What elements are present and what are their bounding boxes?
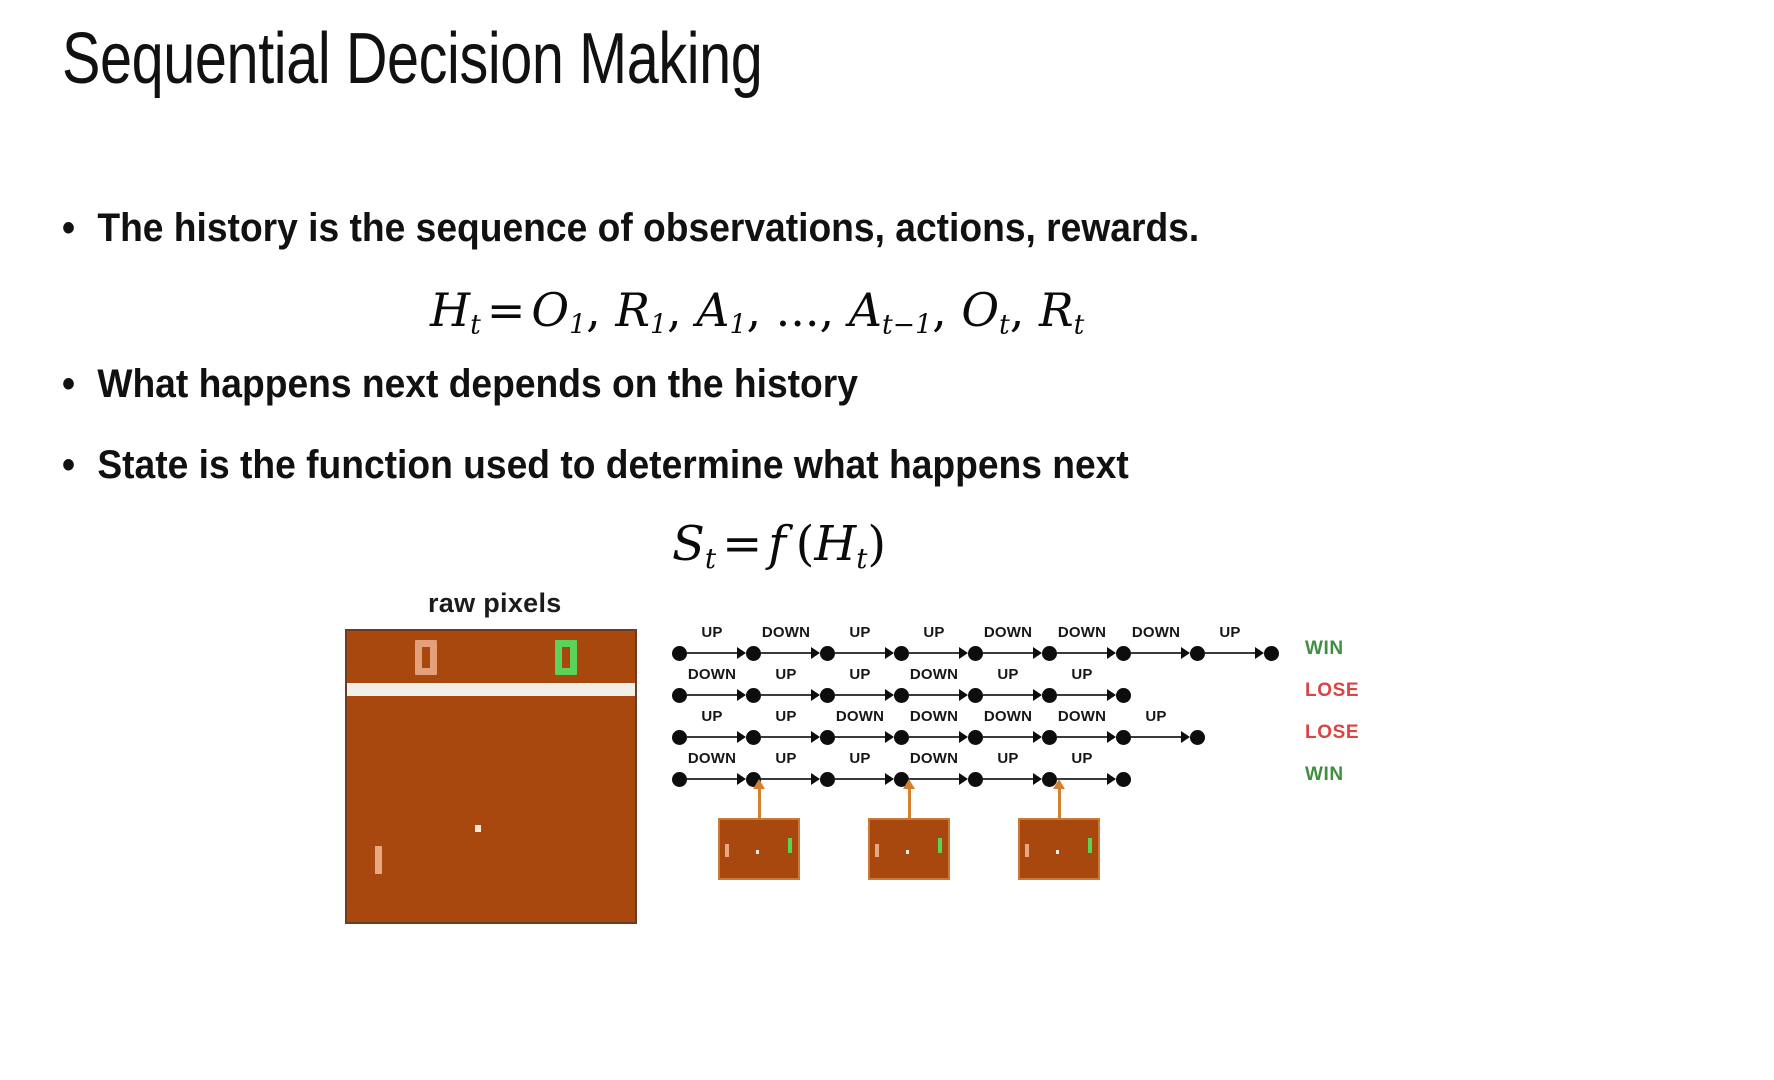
trajectory-state-node (746, 646, 761, 661)
trajectory-edge (909, 694, 959, 696)
trajectory-state-node (1190, 646, 1205, 661)
trajectory-arrow-icon (959, 647, 968, 659)
trajectory-edge (687, 652, 737, 654)
bullet-text-2: What happens next depends on the history (97, 362, 858, 406)
trajectory-arrow-icon (959, 731, 968, 743)
trajectory-state-node (1264, 646, 1279, 661)
trajectory-action-label: DOWN (1132, 624, 1180, 641)
equation-history-lhs: Ht (430, 283, 481, 337)
trajectory-edge (983, 778, 1033, 780)
trajectory-edge (983, 652, 1033, 654)
bullet-item-2: •What happens next depends on the histor… (62, 362, 858, 407)
trajectory-arrow-icon (885, 689, 894, 701)
trajectory-action-label: UP (923, 624, 944, 641)
trajectory-action-label: DOWN (688, 666, 736, 683)
trajectory-edge (983, 736, 1033, 738)
trajectory-state-node (672, 772, 687, 787)
trajectory-outcome-label: LOSE (1305, 722, 1359, 744)
trajectory-state-node (820, 772, 835, 787)
equation-state-lhs: St (672, 516, 716, 572)
trajectory-edge (909, 736, 959, 738)
trajectory-action-label: UP (1071, 666, 1092, 683)
trajectory-action-label: DOWN (910, 708, 958, 725)
trajectory-edge (1057, 652, 1107, 654)
pong-score-band (347, 631, 635, 683)
trajectory-outcome-label: LOSE (1305, 680, 1359, 702)
trajectory-arrow-icon (737, 647, 746, 659)
trajectory-action-label: DOWN (1058, 708, 1106, 725)
trajectory-row: DOWNUPUPDOWNUPUPLOSE (660, 680, 1360, 710)
frame-ball (756, 850, 759, 854)
trajectory-edge (1057, 694, 1107, 696)
trajectory-state-node (1116, 646, 1131, 661)
trajectory-arrow-icon (811, 689, 820, 701)
trajectory-action-label: DOWN (688, 750, 736, 767)
trajectory-action-label: UP (775, 708, 796, 725)
trajectory-edge (1131, 736, 1181, 738)
trajectory-state-node (968, 730, 983, 745)
trajectory-arrow-icon (737, 773, 746, 785)
trajectory-edge (835, 652, 885, 654)
trajectory-state-node (894, 646, 909, 661)
trajectory-action-label: UP (997, 666, 1018, 683)
trajectory-edge (687, 778, 737, 780)
trajectory-edge (687, 736, 737, 738)
bullet-item-3: •State is the function used to determine… (62, 443, 1129, 488)
slide-title: Sequential Decision Making (62, 22, 762, 98)
trajectory-action-label: UP (1071, 750, 1092, 767)
trajectory-arrow-icon (959, 689, 968, 701)
trajectory-state-node (894, 688, 909, 703)
trajectory-edge (909, 652, 959, 654)
trajectory-action-label: UP (775, 750, 796, 767)
trajectory-state-node (672, 688, 687, 703)
trajectory-action-label: UP (849, 750, 870, 767)
bullet-text-1: The history is the sequence of observati… (97, 206, 1199, 250)
trajectory-state-node (746, 688, 761, 703)
trajectory-edge (835, 778, 885, 780)
trajectory-action-label: UP (1145, 708, 1166, 725)
trajectory-state-node (820, 646, 835, 661)
equation-history: Ht=O1, R1, A1, ..., At−1, Ot, Rt (430, 283, 1084, 340)
trajectory-edge (761, 652, 811, 654)
trajectory-edge (835, 736, 885, 738)
pong-left-paddle (375, 846, 382, 874)
trajectory-action-label: UP (849, 666, 870, 683)
trajectory-arrow-icon (1033, 647, 1042, 659)
trajectory-row: UPDOWNUPUPDOWNDOWNDOWNUPWIN (660, 638, 1360, 668)
frame-left-paddle (875, 844, 879, 857)
trajectory-action-label: DOWN (910, 750, 958, 767)
trajectory-arrow-icon (1107, 731, 1116, 743)
frame-left-paddle (1025, 844, 1029, 857)
trajectory-state-node (672, 646, 687, 661)
trajectory-arrow-icon (1255, 647, 1264, 659)
trajectory-arrow-icon (1033, 689, 1042, 701)
trajectory-state-node (820, 730, 835, 745)
bullet-marker-3: • (62, 443, 97, 488)
trajectory-action-label: DOWN (1058, 624, 1106, 641)
trajectory-edge (761, 736, 811, 738)
trajectory-arrow-icon (1033, 773, 1042, 785)
trajectory-action-label: DOWN (762, 624, 810, 641)
pong-score-right-digit (555, 640, 577, 675)
trajectory-action-label: UP (775, 666, 796, 683)
trajectory-row: UPUPDOWNDOWNDOWNDOWNUPLOSE (660, 722, 1360, 752)
trajectory-arrow-icon (737, 689, 746, 701)
bullet-text-3: State is the function used to determine … (97, 443, 1128, 487)
trajectory-arrow-icon (885, 731, 894, 743)
trajectory-state-node (1116, 730, 1131, 745)
trajectory-arrow-icon (1181, 731, 1190, 743)
trajectory-edge (1057, 736, 1107, 738)
trajectory-arrow-icon (885, 773, 894, 785)
trajectory-action-label: DOWN (984, 708, 1032, 725)
trajectory-edge (761, 694, 811, 696)
trajectory-edge (761, 778, 811, 780)
trajectory-arrow-icon (1107, 773, 1116, 785)
trajectory-edge (687, 694, 737, 696)
sample-frame (1018, 818, 1100, 880)
trajectory-action-label: DOWN (836, 708, 884, 725)
trajectory-outcome-label: WIN (1305, 764, 1344, 786)
sample-frame (868, 818, 950, 880)
trajectory-arrow-icon (737, 731, 746, 743)
trajectory-state-node (672, 730, 687, 745)
trajectory-state-node (968, 646, 983, 661)
trajectory-state-node (1116, 772, 1131, 787)
trajectory-arrow-icon (1107, 689, 1116, 701)
trajectory-state-node (894, 730, 909, 745)
trajectory-arrow-icon (811, 773, 820, 785)
trajectory-edge (835, 694, 885, 696)
frame-left-paddle (725, 844, 729, 857)
frame-right-paddle (788, 838, 792, 853)
trajectory-state-node (1190, 730, 1205, 745)
trajectory-state-node (968, 772, 983, 787)
sample-frame (718, 818, 800, 880)
trajectory-arrow-icon (1107, 647, 1116, 659)
trajectory-state-node (1042, 730, 1057, 745)
trajectory-arrow-icon (811, 731, 820, 743)
trajectory-state-node (1042, 688, 1057, 703)
bullet-marker-1: • (62, 206, 97, 251)
slide-canvas: Sequential Decision Making •The history … (0, 0, 1774, 1080)
trajectory-edge (1205, 652, 1255, 654)
trajectory-edge (1131, 652, 1181, 654)
frame-up-arrow-icon (1058, 788, 1061, 820)
trajectory-state-node (746, 730, 761, 745)
pong-play-field (347, 696, 635, 922)
trajectory-action-label: UP (997, 750, 1018, 767)
frame-up-arrow-icon (908, 788, 911, 820)
bullet-marker-2: • (62, 362, 97, 407)
trajectory-action-label: UP (701, 708, 722, 725)
frame-right-paddle (938, 838, 942, 853)
trajectory-arrow-icon (885, 647, 894, 659)
trajectory-action-label: DOWN (910, 666, 958, 683)
trajectory-row: DOWNUPUPDOWNUPUPWIN (660, 764, 1360, 794)
pong-ball (475, 825, 481, 832)
trajectory-action-label: UP (849, 624, 870, 641)
trajectory-diagram: UPDOWNUPUPDOWNDOWNDOWNUPWINDOWNUPUPDOWNU… (660, 628, 1360, 798)
pong-top-wall (347, 683, 635, 696)
equation-history-rhs: O1, R1, A1, ..., At−1, Ot, Rt (531, 283, 1084, 337)
pong-game-screenshot (345, 629, 637, 924)
raw-pixels-label: raw pixels (428, 588, 562, 619)
trajectory-action-label: UP (1219, 624, 1240, 641)
trajectory-edge (909, 778, 959, 780)
trajectory-state-node (820, 688, 835, 703)
trajectory-arrow-icon (1181, 647, 1190, 659)
trajectory-state-node (968, 688, 983, 703)
equation-state-rhs: f (Ht) (768, 516, 886, 572)
trajectory-edge (983, 694, 1033, 696)
bullet-item-1: •The history is the sequence of observat… (62, 206, 1199, 251)
trajectory-arrow-icon (811, 647, 820, 659)
trajectory-state-node (1116, 688, 1131, 703)
equation-state: St=f (Ht) (672, 516, 886, 575)
frame-up-arrow-icon (758, 788, 761, 820)
trajectory-action-label: DOWN (984, 624, 1032, 641)
frame-ball (906, 850, 909, 854)
trajectory-outcome-label: WIN (1305, 638, 1344, 660)
frame-ball (1056, 850, 1059, 854)
pong-score-left-digit (415, 640, 437, 675)
trajectory-arrow-icon (1033, 731, 1042, 743)
trajectory-state-node (1042, 646, 1057, 661)
trajectory-arrow-icon (959, 773, 968, 785)
frame-right-paddle (1088, 838, 1092, 853)
trajectory-action-label: UP (701, 624, 722, 641)
